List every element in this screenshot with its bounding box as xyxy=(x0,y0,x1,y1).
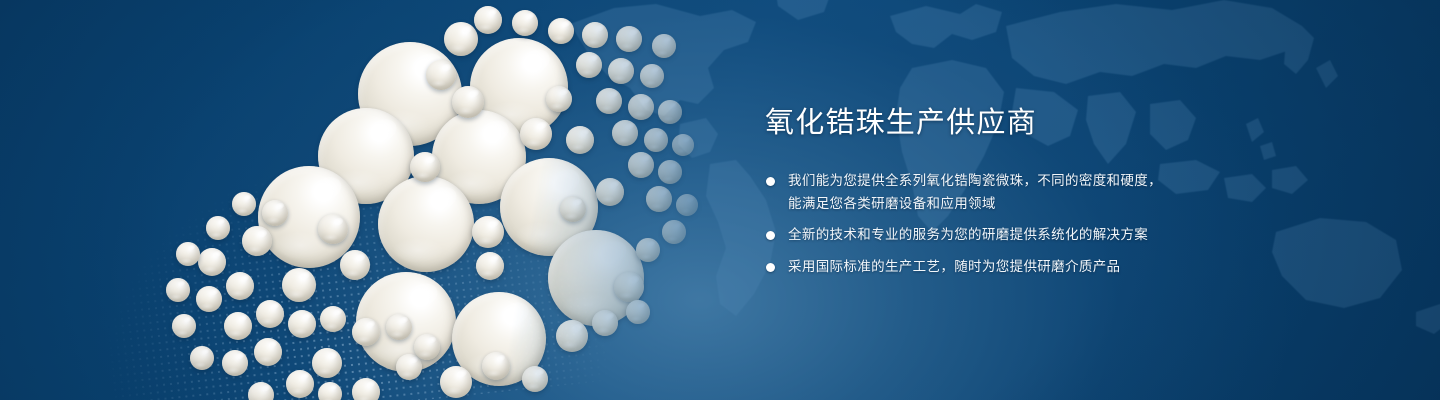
bullet-line: 我们能为您提供全系列氧化锆陶瓷微珠，不同的密度和硬度， xyxy=(788,170,1385,193)
banner-copy-block: 氧化锆珠生产供应商 我们能为您提供全系列氧化锆陶瓷微珠，不同的密度和硬度， 能满… xyxy=(765,106,1385,278)
bullet-dot-icon xyxy=(766,231,775,240)
list-item: 我们能为您提供全系列氧化锆陶瓷微珠，不同的密度和硬度， 能满足您各类研磨设备和应… xyxy=(765,170,1385,215)
list-item: 采用国际标准的生产工艺，随时为您提供研磨介质产品 xyxy=(765,256,1385,279)
banner-feature-list: 我们能为您提供全系列氧化锆陶瓷微珠，不同的密度和硬度， 能满足您各类研磨设备和应… xyxy=(765,170,1385,278)
bullet-line: 采用国际标准的生产工艺，随时为您提供研磨介质产品 xyxy=(788,256,1385,279)
banner-headline: 氧化锆珠生产供应商 xyxy=(765,106,1385,140)
hero-banner: 氧化锆珠生产供应商 我们能为您提供全系列氧化锆陶瓷微珠，不同的密度和硬度， 能满… xyxy=(0,0,1440,400)
list-item: 全新的技术和专业的服务为您的研磨提供系统化的解决方案 xyxy=(765,224,1385,247)
bullet-line: 全新的技术和专业的服务为您的研磨提供系统化的解决方案 xyxy=(788,224,1385,247)
bullet-dot-icon xyxy=(766,263,775,272)
bullet-line: 能满足您各类研磨设备和应用领域 xyxy=(788,193,1385,216)
bullet-dot-icon xyxy=(766,177,775,186)
